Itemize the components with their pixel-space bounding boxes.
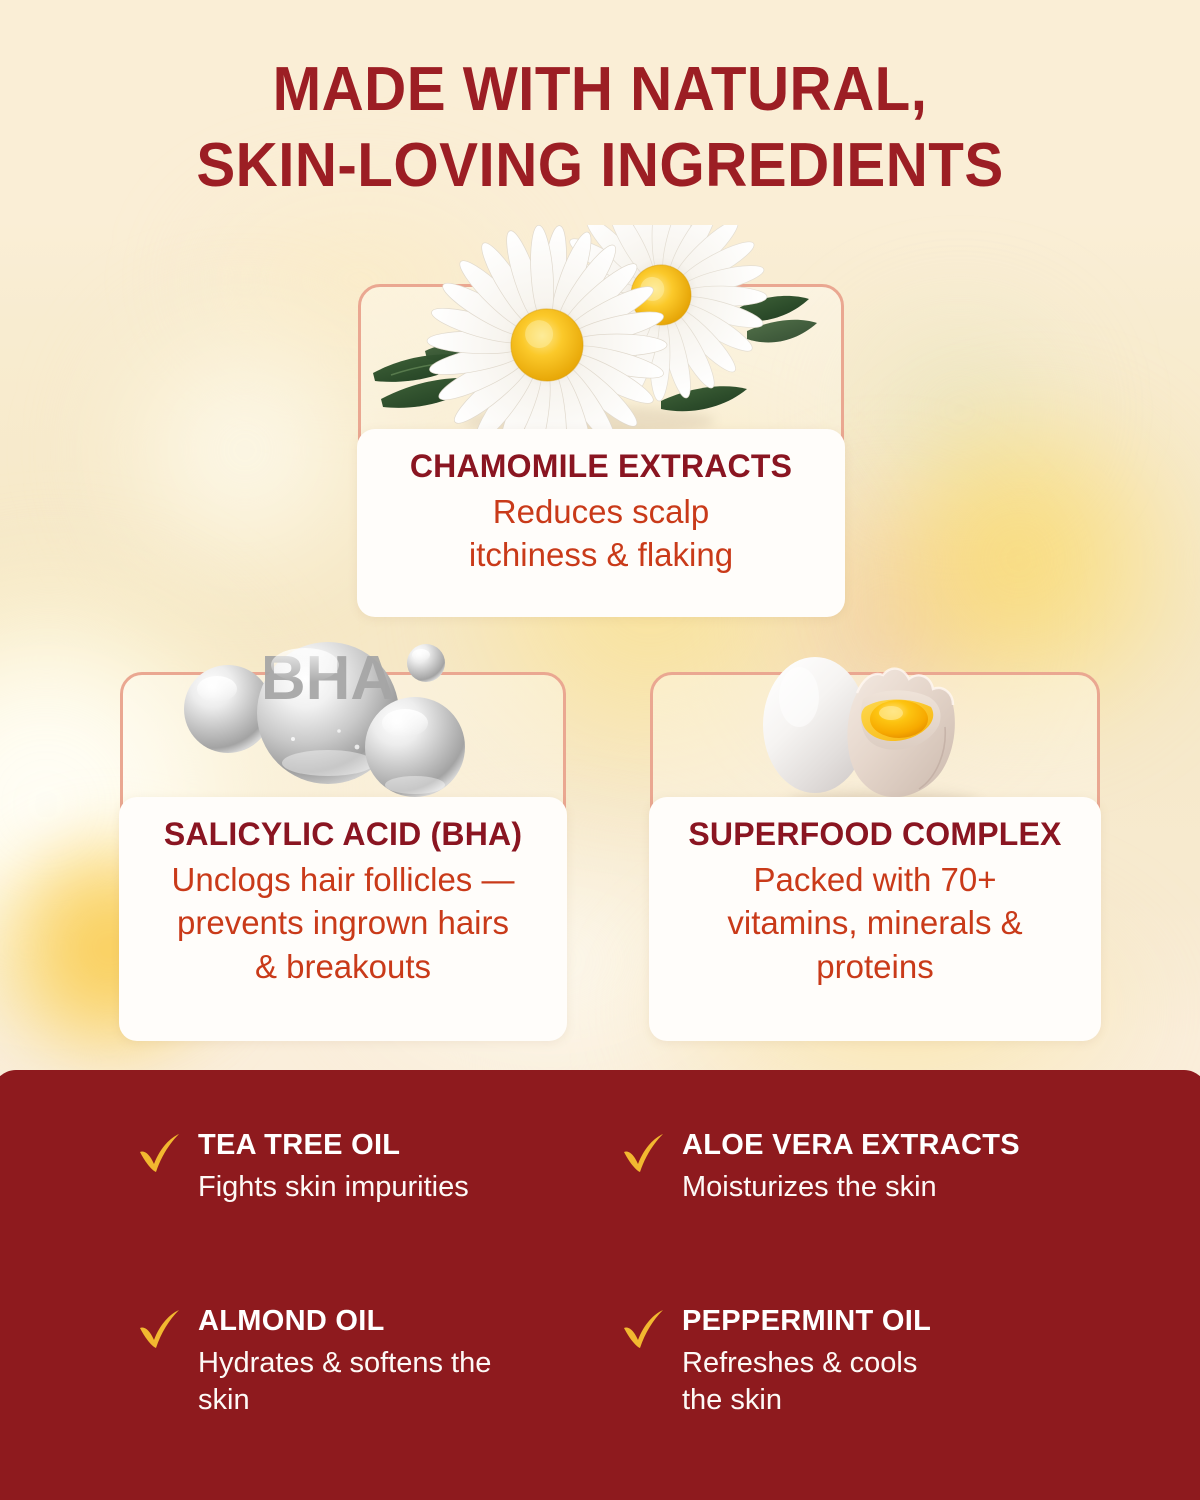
bha-molecule-icon: BHA — [181, 635, 481, 815]
benefit-item-almond-oil: ALMOND OIL Hydrates & softens the skin — [136, 1306, 596, 1419]
benefit-title: ALMOND OIL — [198, 1306, 596, 1338]
benefit-title: ALOE VERA EXTRACTS — [682, 1130, 1090, 1162]
card-description: Packed with 70+ vitamins, minerals & pro… — [663, 858, 1087, 989]
check-icon — [620, 1308, 666, 1350]
benefit-item-tea-tree-oil: TEA TREE OIL Fights skin impurities — [136, 1130, 596, 1206]
benefit-description: Refreshes & cools the skin — [682, 1345, 1090, 1419]
card-title: CHAMOMILE EXTRACTS — [371, 449, 831, 485]
benefit-title: PEPPERMINT OIL — [682, 1306, 1090, 1338]
page-title: MADE WITH NATURAL, SKIN-LOVING INGREDIEN… — [36, 52, 1164, 203]
benefit-description: Moisturizes the skin — [682, 1169, 1090, 1206]
card-description: Unclogs hair follicles — prevents ingrow… — [133, 858, 553, 989]
benefit-item-peppermint-oil: PEPPERMINT OIL Refreshes & cools the ski… — [620, 1306, 1090, 1419]
background-blur-blob — [95, 300, 395, 600]
ingredient-card-chamomile: CHAMOMILE EXTRACTS Reduces scalp itchine… — [358, 284, 844, 616]
infographic-page: MADE WITH NATURAL, SKIN-LOVING INGREDIEN… — [0, 0, 1200, 1500]
ingredient-card-superfood: SUPERFOOD COMPLEX Packed with 70+ vitami… — [650, 672, 1100, 1040]
check-icon — [136, 1308, 182, 1350]
card-title: SALICYLIC ACID (BHA) — [133, 817, 553, 853]
chamomile-flowers-icon — [361, 225, 847, 445]
check-icon — [136, 1132, 182, 1174]
benefit-description: Hydrates & softens the skin — [198, 1345, 596, 1419]
check-icon — [620, 1132, 666, 1174]
card-text-panel: CHAMOMILE EXTRACTS Reduces scalp itchine… — [357, 429, 845, 617]
card-text-panel: SALICYLIC ACID (BHA) Unclogs hair follic… — [119, 797, 567, 1041]
benefit-title: TEA TREE OIL — [198, 1130, 596, 1162]
card-description: Reduces scalp itchiness & flaking — [371, 490, 831, 577]
card-text-panel: SUPERFOOD COMPLEX Packed with 70+ vitami… — [649, 797, 1101, 1041]
benefit-description: Fights skin impurities — [198, 1169, 596, 1206]
ingredient-card-salicylic-acid: BHA SALICYLIC ACID (BHA) Unclogs hair fo… — [120, 672, 566, 1040]
card-title: SUPERFOOD COMPLEX — [663, 817, 1087, 853]
benefit-item-aloe-vera-extracts: ALOE VERA EXTRACTS Moisturizes the skin — [620, 1130, 1090, 1206]
